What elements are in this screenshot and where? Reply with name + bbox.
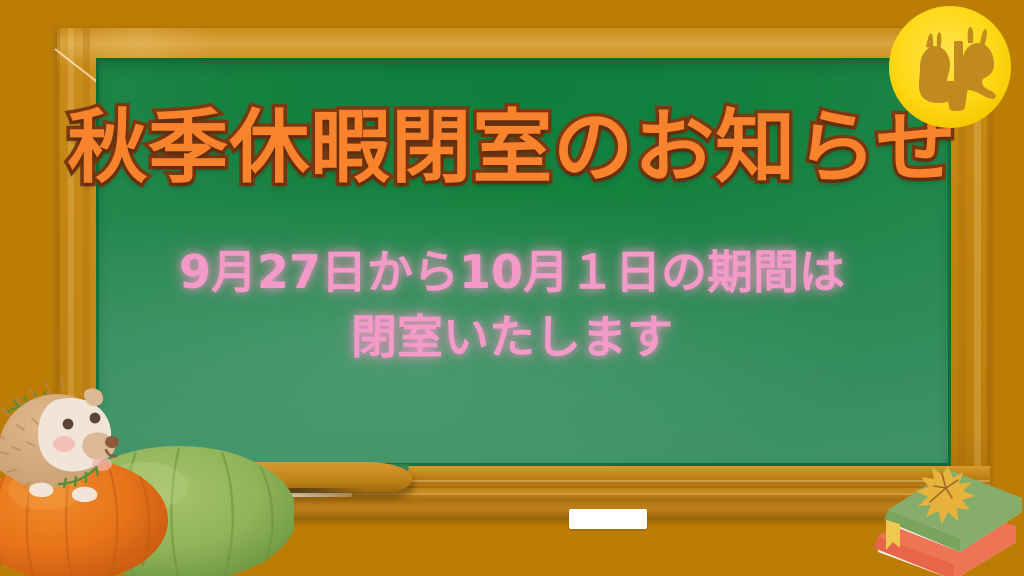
stacked-books-illustration xyxy=(862,432,1024,576)
page-title: 秋季休暇閉室のお知らせ xyxy=(0,108,1024,188)
chalk-stick xyxy=(569,509,647,529)
notice-line-1: 9月27日から10月１日の期間は xyxy=(0,240,1024,305)
frame-miter-top-left xyxy=(54,48,99,84)
poster-canvas: 秋季休暇閉室のお知らせ 9月27日から10月１日の期間は 閉室いたします xyxy=(0,0,1024,576)
hedgehog-and-pumpkins-illustration xyxy=(0,338,294,576)
moon-with-rabbits-icon xyxy=(888,3,1012,131)
